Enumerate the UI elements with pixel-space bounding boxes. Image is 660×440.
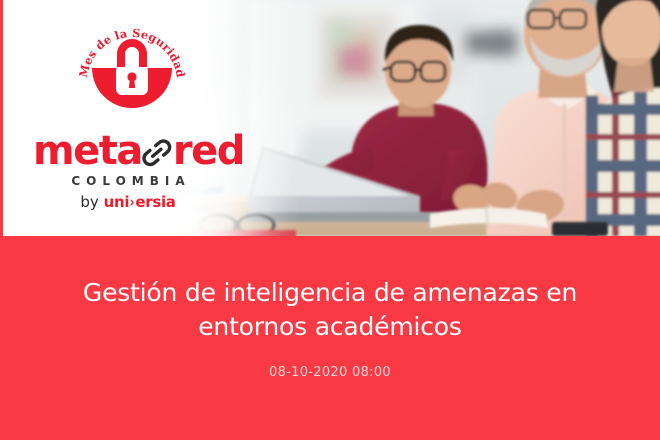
event-title: Gestión de inteligencia de amenazas en e… [50, 276, 610, 344]
event-datetime: 08-10-2020 08:00 [50, 364, 610, 382]
padlock-icon: Mes de la Seguridad [78, 20, 186, 115]
wordmark-meta: meta [33, 131, 142, 171]
byline-brand-chevron: › [130, 193, 135, 211]
metared-wordmark: meta red [33, 128, 223, 174]
branding-panel: Mes de la Seguridad meta red COLOMBIA by [0, 0, 235, 236]
wordmark-red: red [173, 131, 244, 171]
chain-link-icon [140, 136, 174, 170]
security-month-seal: Mes de la Seguridad [78, 20, 186, 115]
event-banner-card: Mes de la Seguridad meta red COLOMBIA by [0, 0, 660, 440]
byline-brand-post: ersia [135, 193, 175, 211]
logo-byline: by uni›ersia [33, 193, 223, 211]
logo-country: COLOMBIA [33, 174, 223, 188]
event-info-band: Gestión de inteligencia de amenazas en e… [0, 236, 660, 440]
byline-prefix: by [80, 193, 98, 211]
byline-brand-pre: uni [104, 193, 130, 211]
left-accent-stripe [0, 0, 3, 236]
